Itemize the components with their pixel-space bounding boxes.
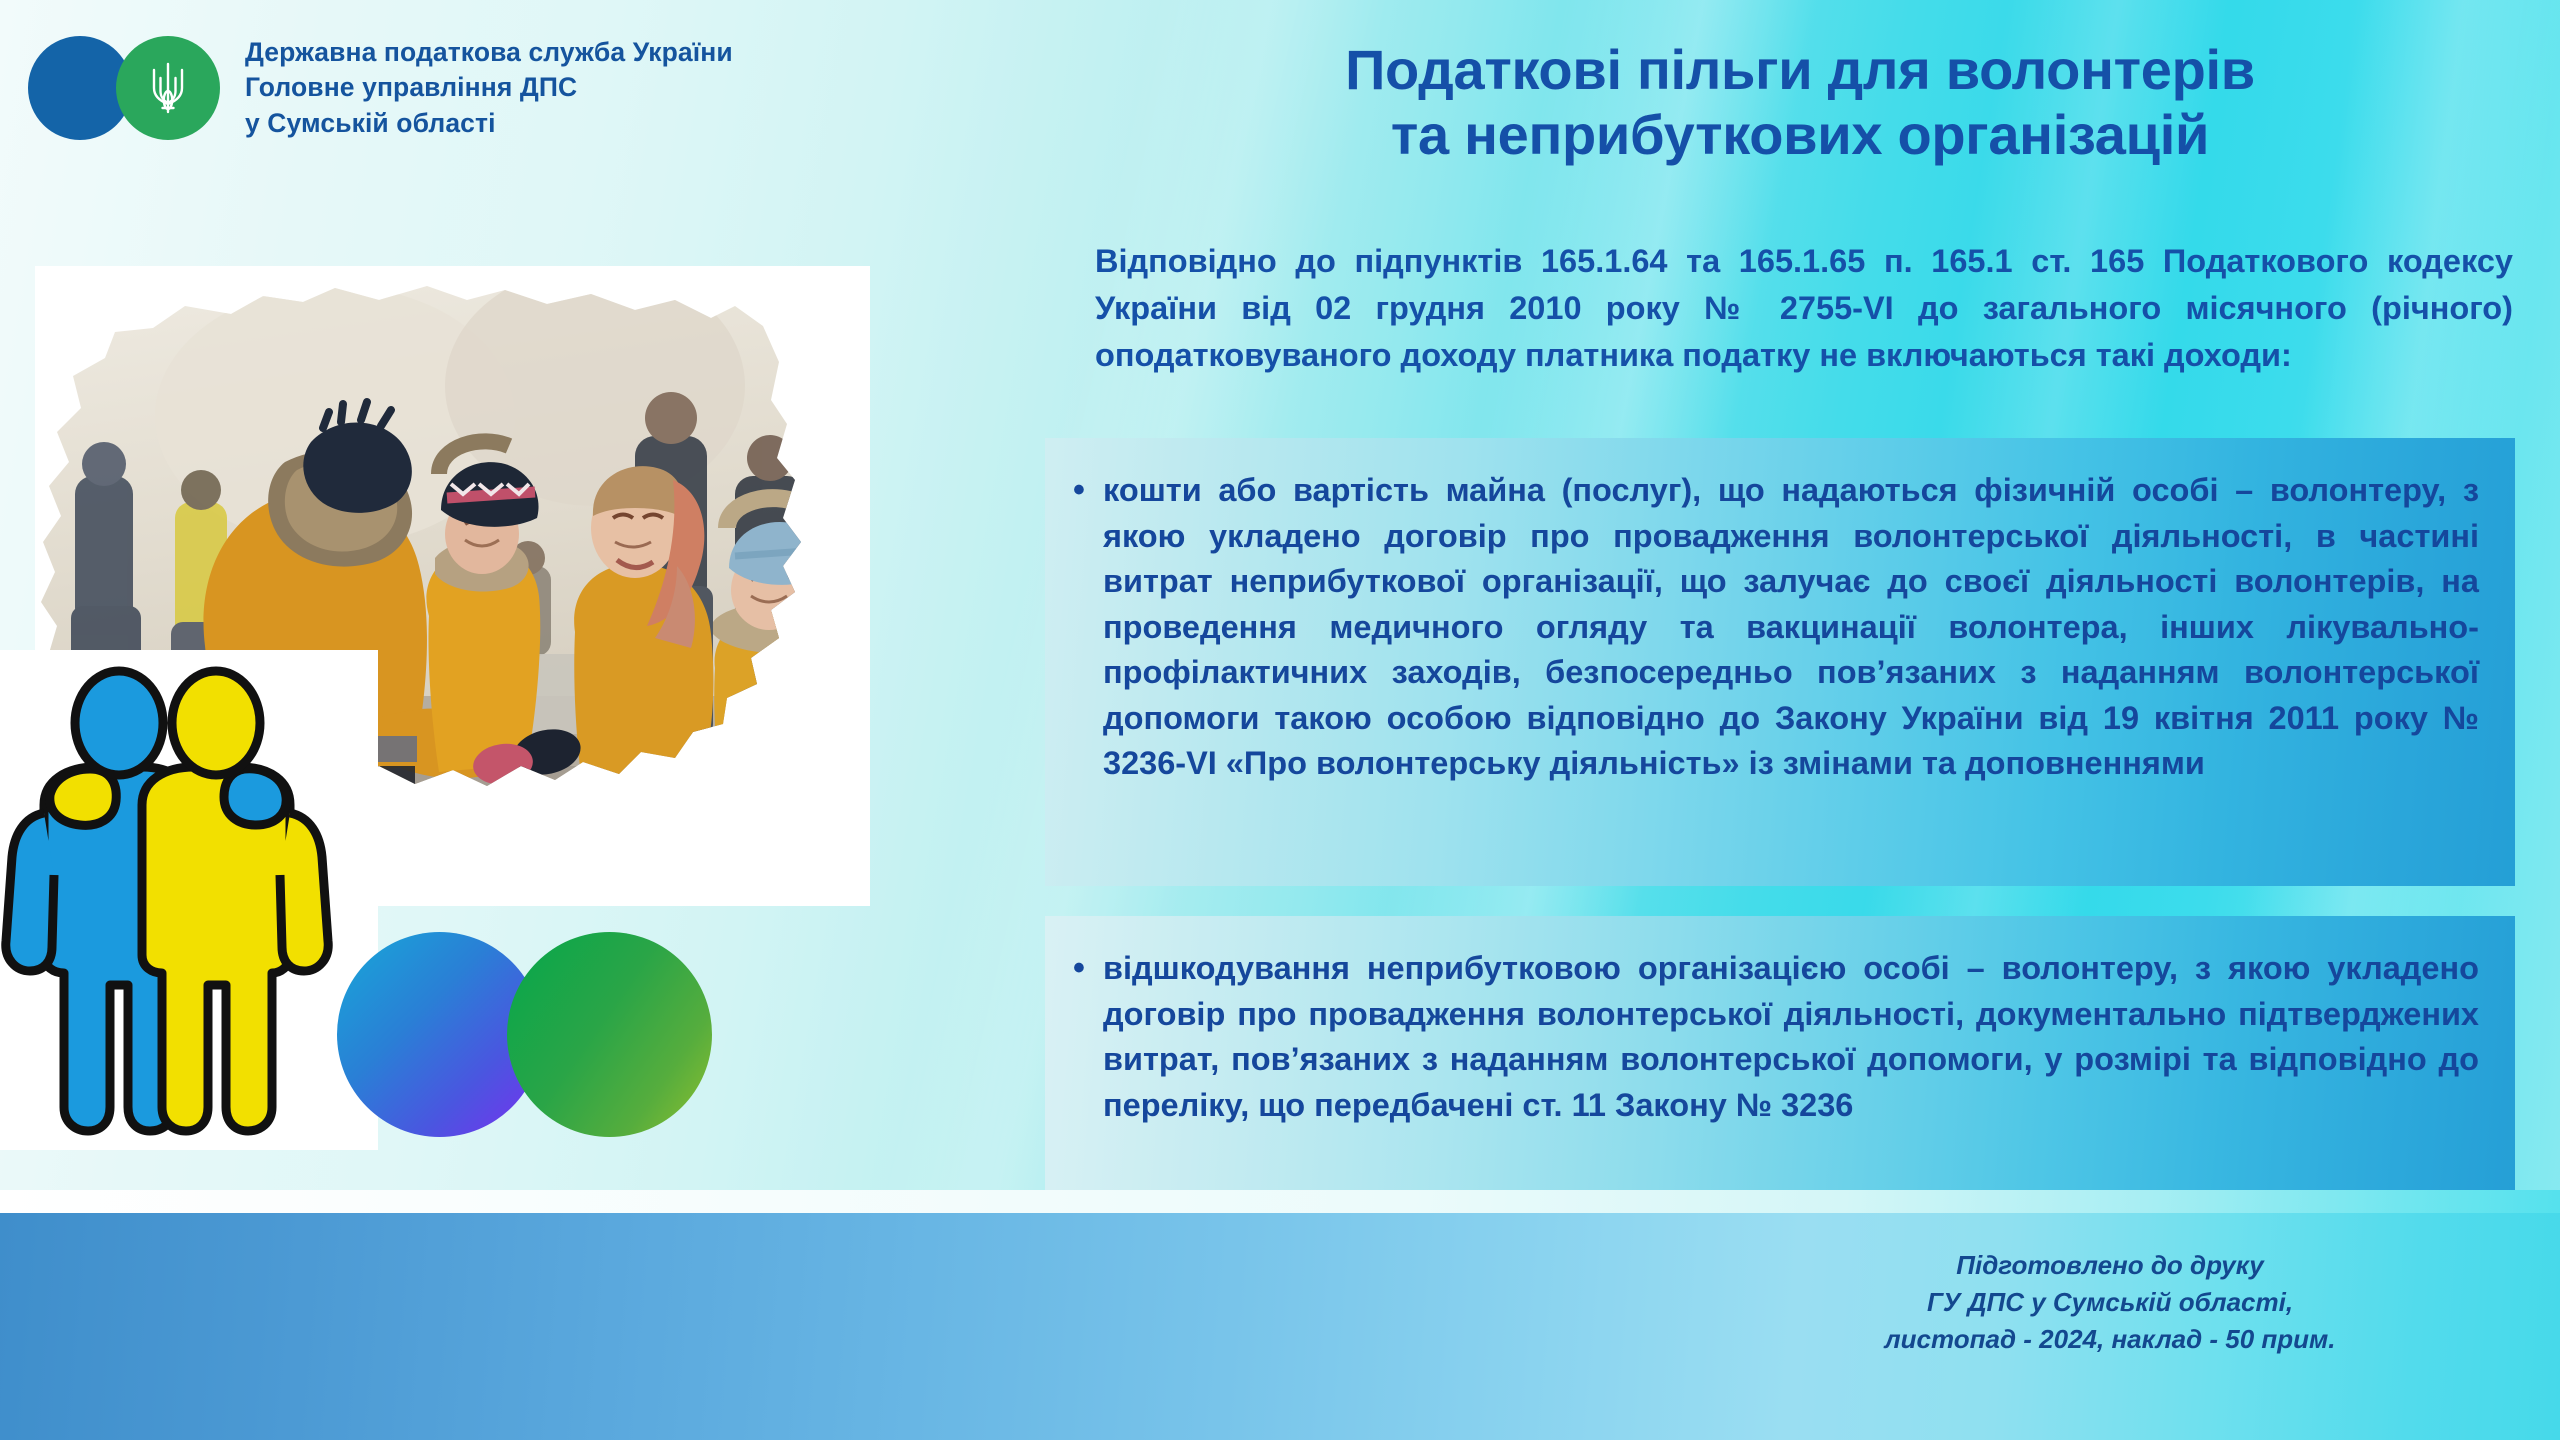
page-title-line-1: Податкові пільги для волонтерів [1080, 38, 2520, 103]
benefit-panel-2-inner: • відшкодування неприбутковою організаці… [1045, 916, 2515, 1128]
gradient-circle-green-icon [507, 932, 712, 1137]
page-title: Податкові пільги для волонтерів та непри… [1080, 38, 2520, 168]
mother-figure [574, 466, 713, 776]
footer-top-edge [0, 1190, 2560, 1213]
footer-line-3: листопад - 2024, наклад - 50 прим. [1700, 1321, 2520, 1358]
footer-line-2: ГУ ДПС у Сумській області, [1700, 1284, 2520, 1321]
organization-name-line-2: Головне управління ДПС [245, 70, 733, 106]
logo-green-circle-icon [116, 36, 220, 140]
benefit-panel-1-inner: • кошти або вартість майна (послуг), що … [1045, 438, 2515, 787]
bullet-marker-icon: • [1073, 946, 1103, 1128]
benefit-text-1: кошти або вартість майна (послуг), що на… [1103, 468, 2479, 787]
benefit-text-2: відшкодування неприбутковою організацією… [1103, 946, 2479, 1128]
benefit-panel-1: • кошти або вартість майна (послуг), що … [1045, 438, 2515, 886]
logo-marks [28, 32, 233, 144]
organization-name-line-1: Державна податкова служба України [245, 35, 733, 71]
two-people-pictogram-icon [0, 655, 362, 1145]
leaflet [759, 650, 870, 736]
organization-logo-block: Державна податкова служба України Головн… [28, 32, 733, 144]
organization-name-line-3: у Сумській області [245, 106, 733, 142]
organization-name: Державна податкова служба України Головн… [245, 35, 733, 142]
poster-root: Державна податкова служба України Головн… [0, 0, 2560, 1440]
intro-paragraph: Відповідно до підпунктів 165.1.64 та 165… [1095, 238, 2513, 379]
ukraine-trident-icon [145, 58, 191, 118]
bullet-marker-icon: • [1073, 468, 1103, 787]
footer-line-1: Підготовлено до друку [1700, 1247, 2520, 1284]
page-title-line-2: та неприбуткових організацій [1080, 103, 2520, 168]
benefit-panel-2: • відшкодування неприбутковою організаці… [1045, 916, 2515, 1190]
footer-imprint: Підготовлено до друку ГУ ДПС у Сумській … [1700, 1247, 2520, 1358]
decorative-circles [337, 932, 737, 1142]
